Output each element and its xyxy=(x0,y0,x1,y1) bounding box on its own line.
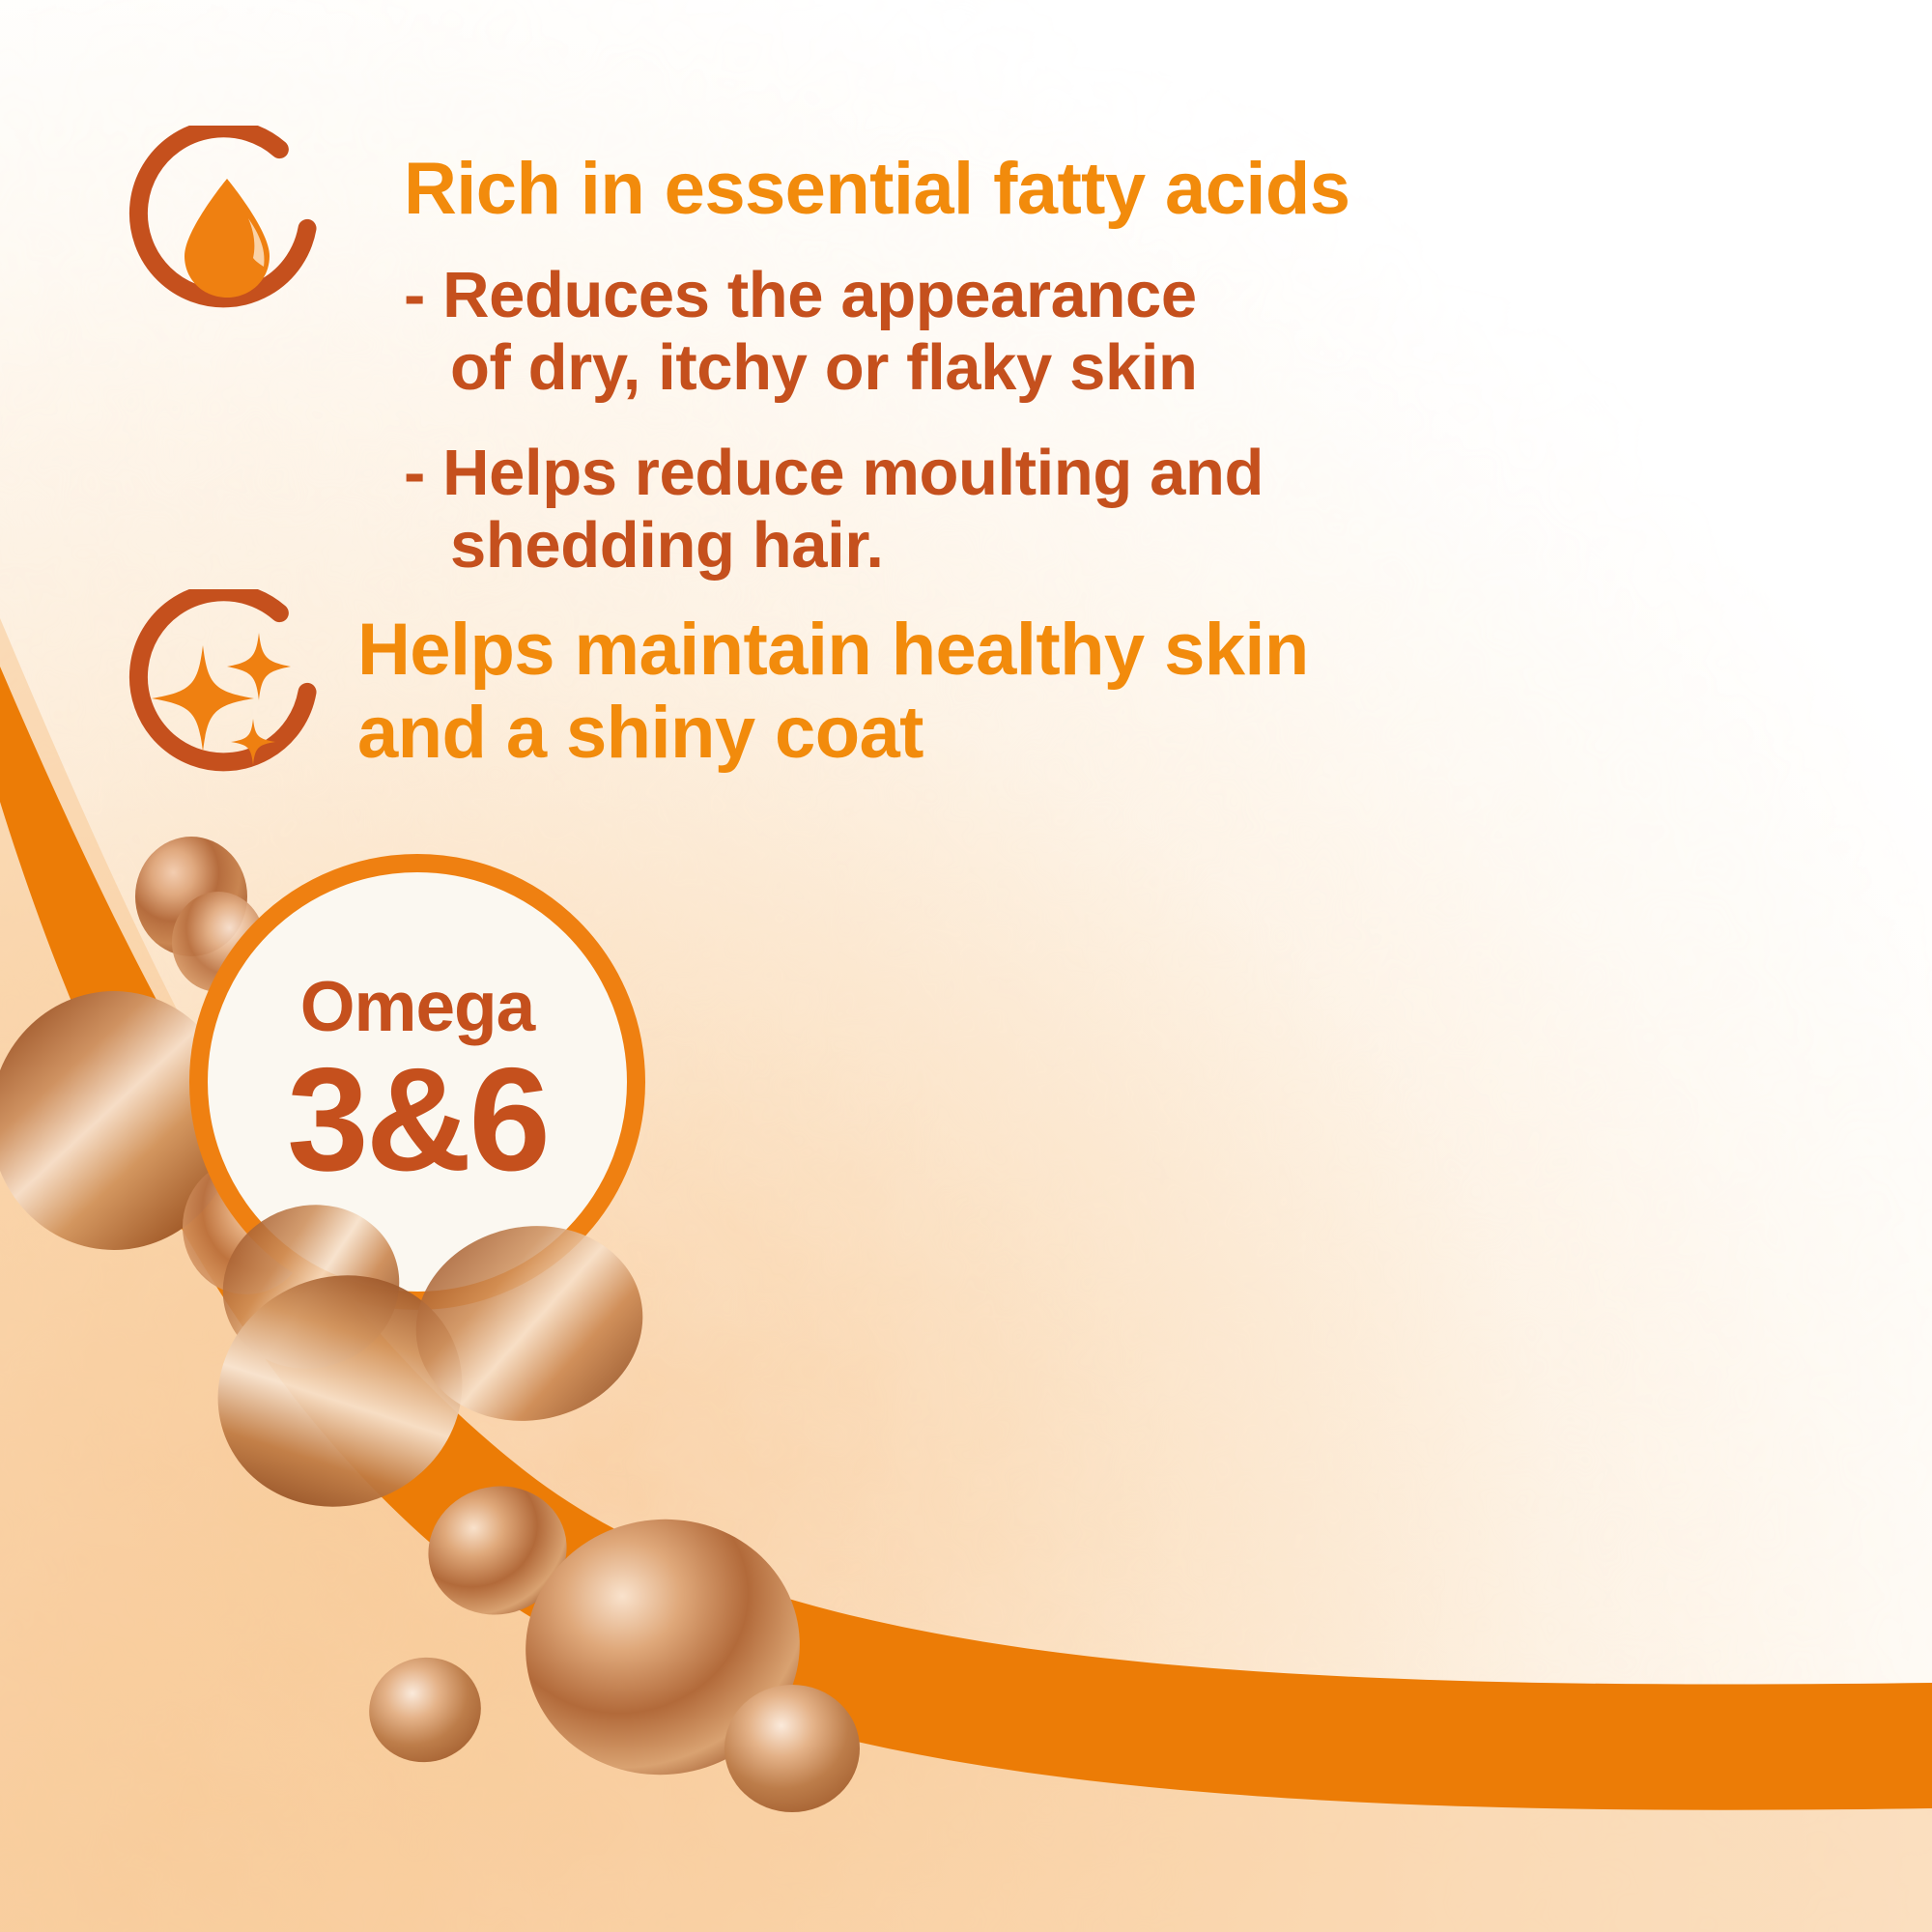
bullet-dash: - xyxy=(404,437,425,509)
bullet-line-2: of dry, itchy or flaky skin xyxy=(404,331,1198,404)
bullet-line-1: Reduces the appearance xyxy=(442,259,1197,331)
sparkle-shine-icon xyxy=(121,589,333,807)
page-title-healthy-skin: Helps maintain healthy skin and a shiny … xyxy=(357,609,1309,775)
omega-badge: Omega 3&6 xyxy=(189,854,645,1310)
page-title-fatty-acids: Rich in essential fatty acids xyxy=(404,153,1350,226)
bullet-reduce-moulting: - Helps reduce moulting and shedding hai… xyxy=(404,437,1264,582)
oil-drop-icon xyxy=(121,126,333,343)
heading-line-2: and a shiny coat xyxy=(357,692,923,774)
heading-line-1: Helps maintain healthy skin xyxy=(357,609,1309,691)
bullet-dash: - xyxy=(404,259,425,331)
omega-label: Omega xyxy=(300,972,534,1042)
bullet-line-1: Helps reduce moulting and xyxy=(442,437,1264,509)
bullet-reduces-appearance: - Reduces the appearance of dry, itchy o… xyxy=(404,259,1198,404)
bullet-line-2: shedding hair. xyxy=(404,509,1264,582)
omega-value: 3&6 xyxy=(287,1046,548,1193)
promo-banner: Rich in essential fatty acids - Reduces … xyxy=(0,0,1932,1932)
